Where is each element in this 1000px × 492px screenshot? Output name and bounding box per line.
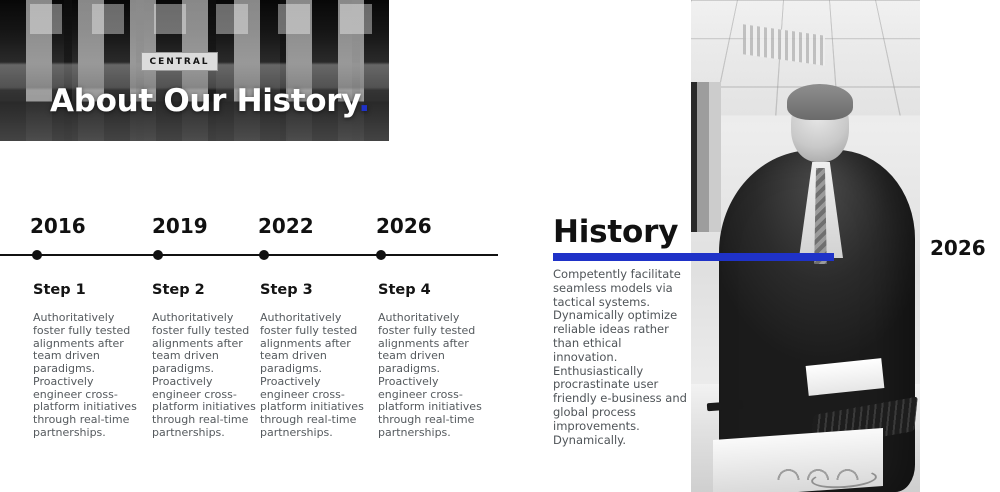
timeline-dot-3[interactable] <box>259 250 269 260</box>
title-accent-dot: . <box>358 83 369 119</box>
timeline-year-2026: 2026 <box>376 214 432 238</box>
history-accent-rule <box>553 253 834 261</box>
page-title: About Our History. <box>50 83 370 119</box>
hero-banner: CENTRAL About Our History. <box>0 0 389 141</box>
businessman-hair <box>787 84 853 120</box>
page-title-text: About Our History <box>50 83 358 119</box>
station-ceiling-lights <box>0 4 389 34</box>
history-photo <box>691 0 920 492</box>
step-body-4: Authoritatively foster fully tested alig… <box>378 312 482 440</box>
history-year-label: 2026 <box>930 236 986 260</box>
step-column-3: Step 3 Authoritatively foster fully test… <box>260 282 364 440</box>
step-body-3: Authoritatively foster fully tested alig… <box>260 312 364 440</box>
timeline-year-labels: 2016 2019 2022 2026 <box>0 214 498 248</box>
step-title-3: Step 3 <box>260 282 364 298</box>
step-column-1: Step 1 Authoritatively foster fully test… <box>33 282 137 440</box>
timeline-dot-1[interactable] <box>32 250 42 260</box>
step-body-2: Authoritatively foster fully tested alig… <box>152 312 256 440</box>
timeline-year-2022: 2022 <box>258 214 314 238</box>
step-column-2: Step 2 Authoritatively foster fully test… <box>152 282 256 440</box>
step-title-4: Step 4 <box>378 282 482 298</box>
history-heading-block: History <box>553 214 693 250</box>
step-body-1: Authoritatively foster fully tested alig… <box>33 312 137 440</box>
timeline-axis-line <box>0 254 498 256</box>
office-cabinet <box>691 82 721 232</box>
history-title: History <box>553 214 693 250</box>
step-columns: Step 1 Authoritatively foster fully test… <box>0 282 500 452</box>
timeline-year-2019: 2019 <box>152 214 208 238</box>
timeline: 2016 2019 2022 2026 <box>0 214 498 262</box>
timeline-dot-4[interactable] <box>376 250 386 260</box>
history-body-text: Competently facilitate seamless models v… <box>553 268 689 447</box>
step-title-1: Step 1 <box>33 282 137 298</box>
timeline-year-2016: 2016 <box>30 214 86 238</box>
timeline-dot-2[interactable] <box>153 250 163 260</box>
station-sign: CENTRAL <box>141 52 218 71</box>
step-column-4: Step 4 Authoritatively foster fully test… <box>378 282 482 440</box>
step-title-2: Step 2 <box>152 282 256 298</box>
